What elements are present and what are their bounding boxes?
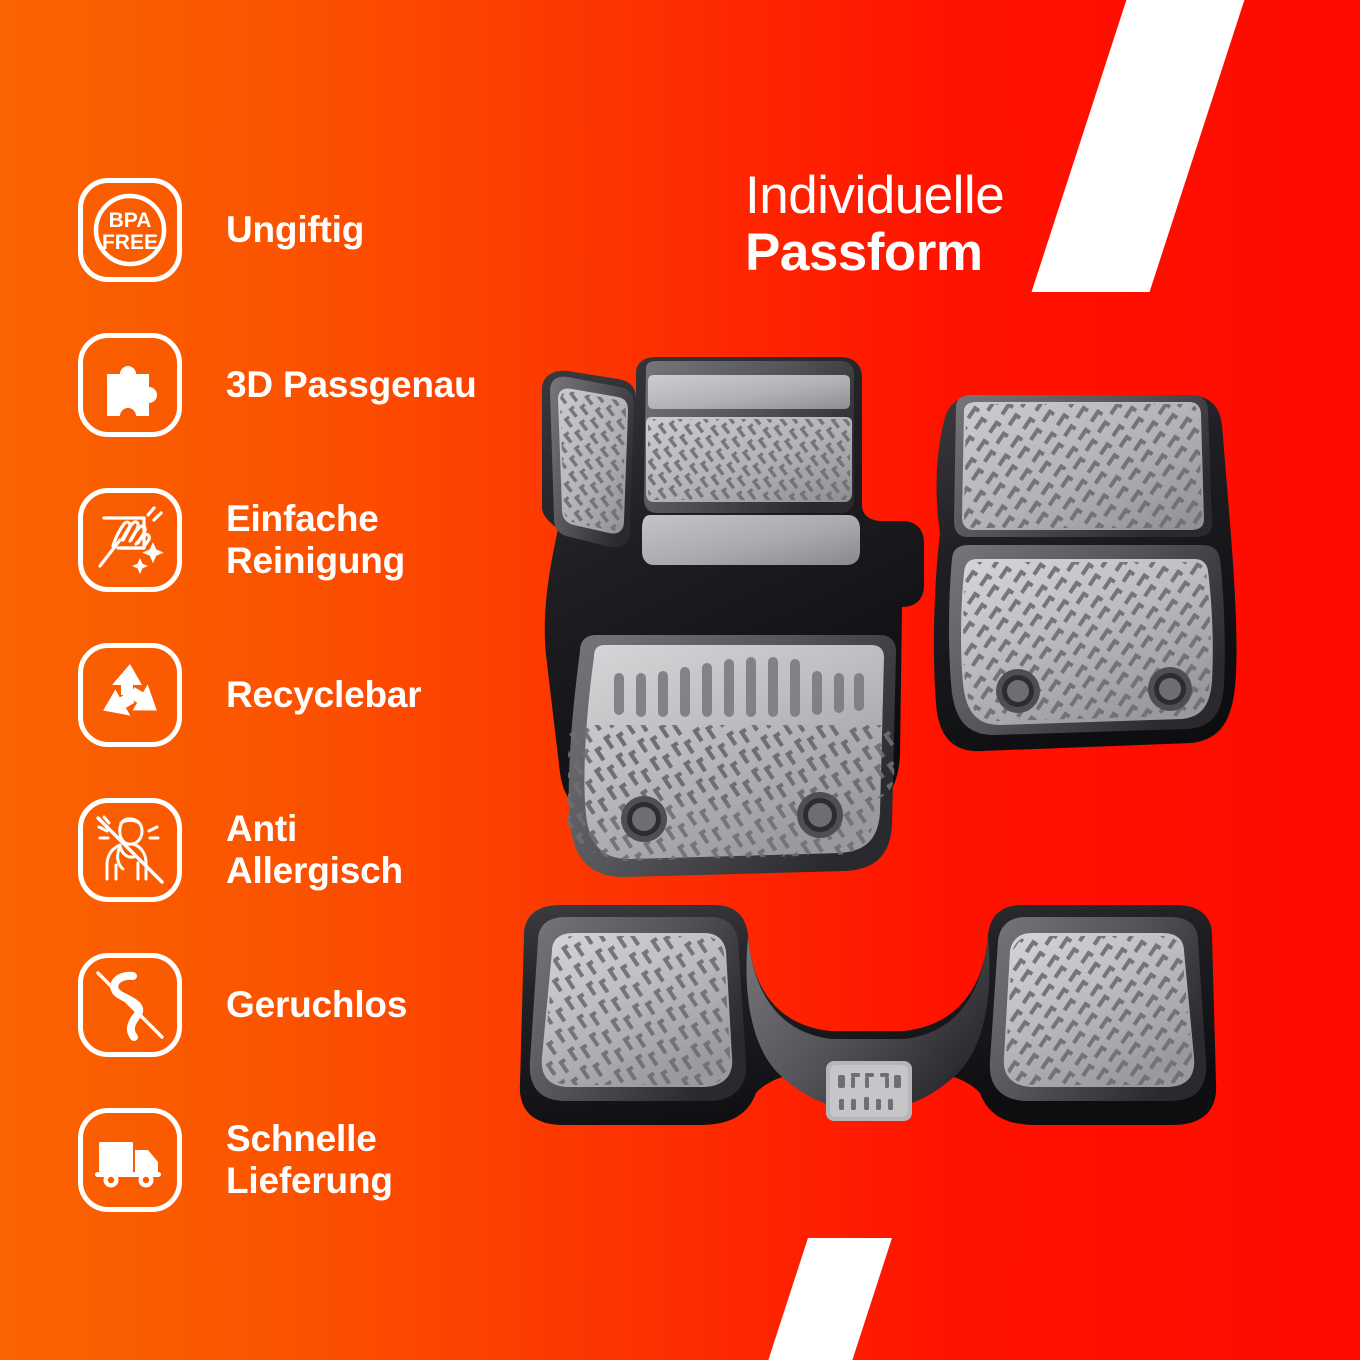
feature-label: Geruchlos	[226, 984, 407, 1026]
feature-item-recyclebar: Recyclebar	[78, 617, 508, 772]
bpa-free-icon: BPA FREE	[78, 178, 182, 282]
no-allergy-icon	[78, 798, 182, 902]
wiping-hand-icon	[78, 488, 182, 592]
driver-front-mat	[542, 357, 924, 885]
no-odor-icon	[78, 953, 182, 1057]
feature-label: Einfache Reinigung	[226, 498, 405, 582]
feature-item-einfache-reinigung: Einfache Reinigung	[78, 462, 508, 617]
recycle-icon	[78, 643, 182, 747]
feature-label: Recyclebar	[226, 674, 421, 716]
diagonal-stripe-bottom	[766, 1238, 892, 1360]
feature-item-anti-allergisch: Anti Allergisch	[78, 772, 508, 927]
feature-list: BPA FREE Ungiftig 3D Passgenau	[78, 152, 508, 1237]
puzzle-piece-icon	[78, 333, 182, 437]
page-title: Individuelle Passform	[745, 168, 1004, 281]
feature-label: Anti Allergisch	[226, 808, 403, 892]
feature-label: 3D Passgenau	[226, 364, 477, 406]
free-label: FREE	[102, 231, 158, 254]
passenger-front-mat	[934, 395, 1237, 751]
infographic-canvas: Individuelle Passform BPA FREE Ungiftig …	[0, 0, 1360, 1360]
rear-left-footwell	[530, 917, 746, 1101]
rear-center-tunnel	[746, 937, 989, 1121]
rear-right-footwell	[990, 917, 1206, 1101]
bpa-label: BPA	[109, 209, 152, 232]
product-image-car-floor-mat-set	[498, 355, 1268, 1175]
headline-line-2: Passform	[745, 225, 1004, 282]
feature-item-3d-passgenau: 3D Passgenau	[78, 307, 508, 462]
driver-kick-panel	[642, 361, 860, 565]
rear-bench-mat	[520, 905, 1216, 1125]
passenger-upper-flap	[954, 395, 1212, 537]
driver-floor-well	[568, 635, 908, 885]
feature-label: Schnelle Lieferung	[226, 1118, 393, 1202]
feature-item-geruchlos: Geruchlos	[78, 927, 508, 1082]
driver-heel-pad	[550, 377, 634, 548]
feature-item-schnelle-lieferung: Schnelle Lieferung	[78, 1082, 508, 1237]
feature-item-ungiftig: BPA FREE Ungiftig	[78, 152, 508, 307]
headline-line-1: Individuelle	[745, 168, 1004, 225]
diagonal-stripe-top-right	[1032, 0, 1247, 292]
feature-label: Ungiftig	[226, 209, 364, 251]
passenger-floor-well	[949, 545, 1225, 735]
delivery-truck-icon	[78, 1108, 182, 1212]
